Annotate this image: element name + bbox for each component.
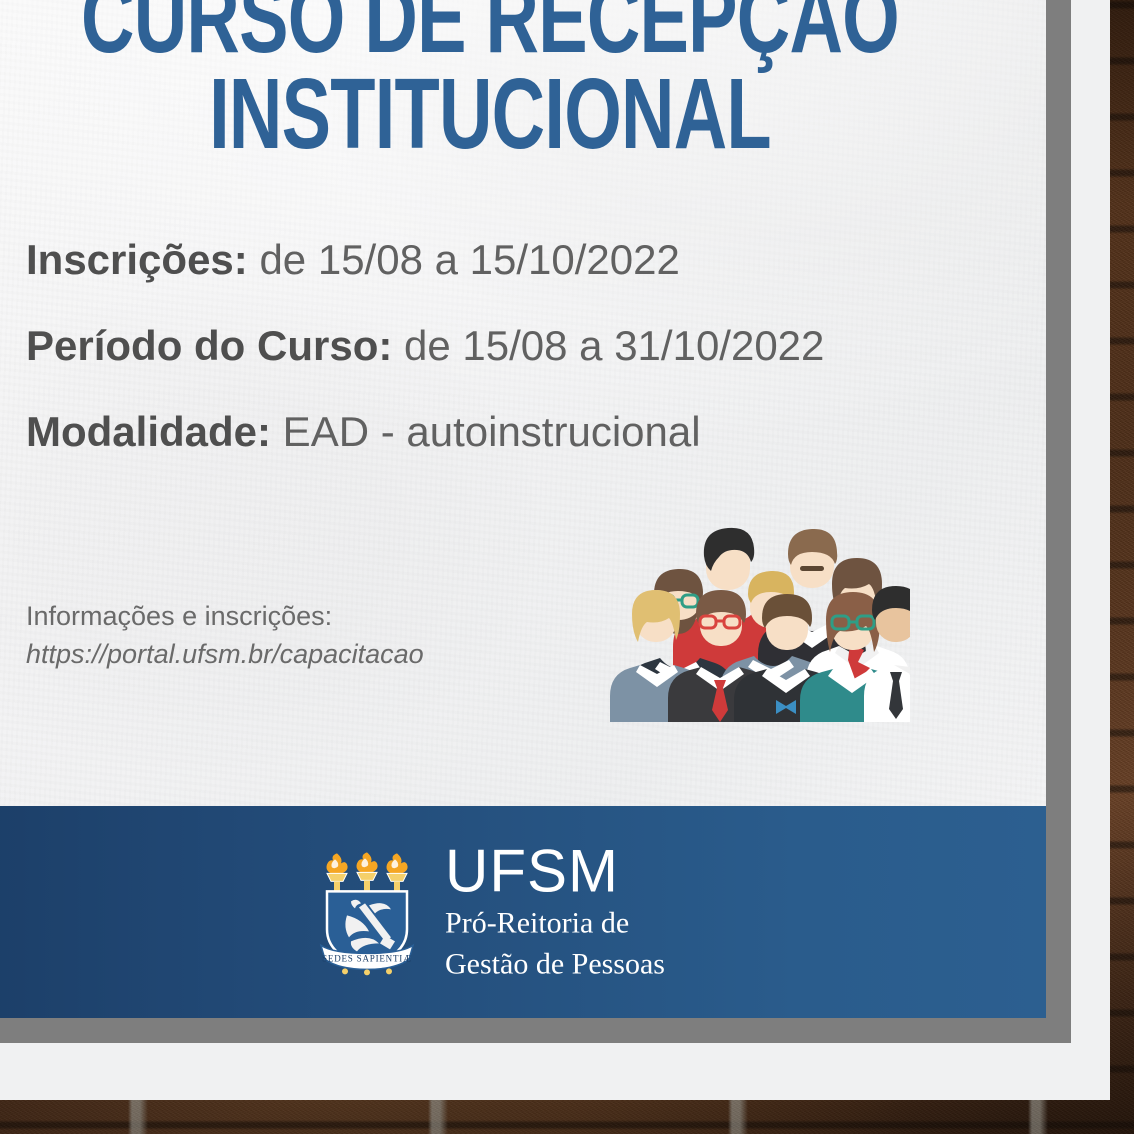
unit-name-line-2: Gestão de Pessoas	[445, 946, 665, 983]
poster-sheet-frame: CURSO DE RECEPÇÃO INSTITUCIONAL Inscriçõ…	[0, 0, 1110, 1100]
footer-bar: SEDES SAPIENTIÆ UFSM Pró-Reitoria de	[0, 806, 1046, 1018]
ufsm-wordmark: UFSM Pró-Reitoria de Gestão de Pessoas	[445, 841, 665, 982]
course-details: Inscrições: de 15/08 a 15/10/2022 Períod…	[26, 239, 986, 497]
page-title-line-2: INSTITUCIONAL	[79, 66, 902, 162]
contact-heading: Informações e inscrições:	[26, 601, 332, 631]
poster-card: CURSO DE RECEPÇÃO INSTITUCIONAL Inscriçõ…	[0, 0, 1046, 1018]
detail-value: EAD - autoinstrucional	[271, 408, 701, 455]
card-drop-shadow: CURSO DE RECEPÇÃO INSTITUCIONAL Inscriçõ…	[0, 0, 1071, 1043]
group-of-people-illustration	[610, 522, 910, 722]
detail-label: Inscrições:	[26, 236, 248, 283]
ufsm-coat-of-arms-icon: SEDES SAPIENTIÆ	[315, 849, 419, 975]
page-title-line-1: CURSO DE RECEPÇÃO	[79, 0, 902, 66]
crest-motto-text: SEDES SAPIENTIÆ	[322, 953, 412, 963]
detail-value: de 15/08 a 31/10/2022	[392, 322, 824, 369]
detail-value: de 15/08 a 15/10/2022	[248, 236, 680, 283]
detail-row-inscricoes: Inscrições: de 15/08 a 15/10/2022	[26, 239, 986, 281]
page-title: CURSO DE RECEPÇÃO INSTITUCIONAL	[0, 0, 1046, 162]
registration-url[interactable]: https://portal.ufsm.br/capacitacao	[26, 635, 424, 673]
unit-name-line-1: Pró-Reitoria de	[445, 905, 665, 942]
contact-block: Informações e inscrições: https://portal…	[26, 597, 424, 674]
detail-label: Modalidade:	[26, 408, 271, 455]
detail-row-modalidade: Modalidade: EAD - autoinstrucional	[26, 411, 986, 453]
detail-label: Período do Curso:	[26, 322, 392, 369]
poster-root: CURSO DE RECEPÇÃO INSTITUCIONAL Inscriçõ…	[0, 0, 1134, 1134]
detail-row-periodo: Período do Curso: de 15/08 a 31/10/2022	[26, 325, 986, 367]
brand-name: UFSM	[445, 841, 665, 901]
footer-logo-lockup: SEDES SAPIENTIÆ UFSM Pró-Reitoria de	[0, 841, 1046, 982]
